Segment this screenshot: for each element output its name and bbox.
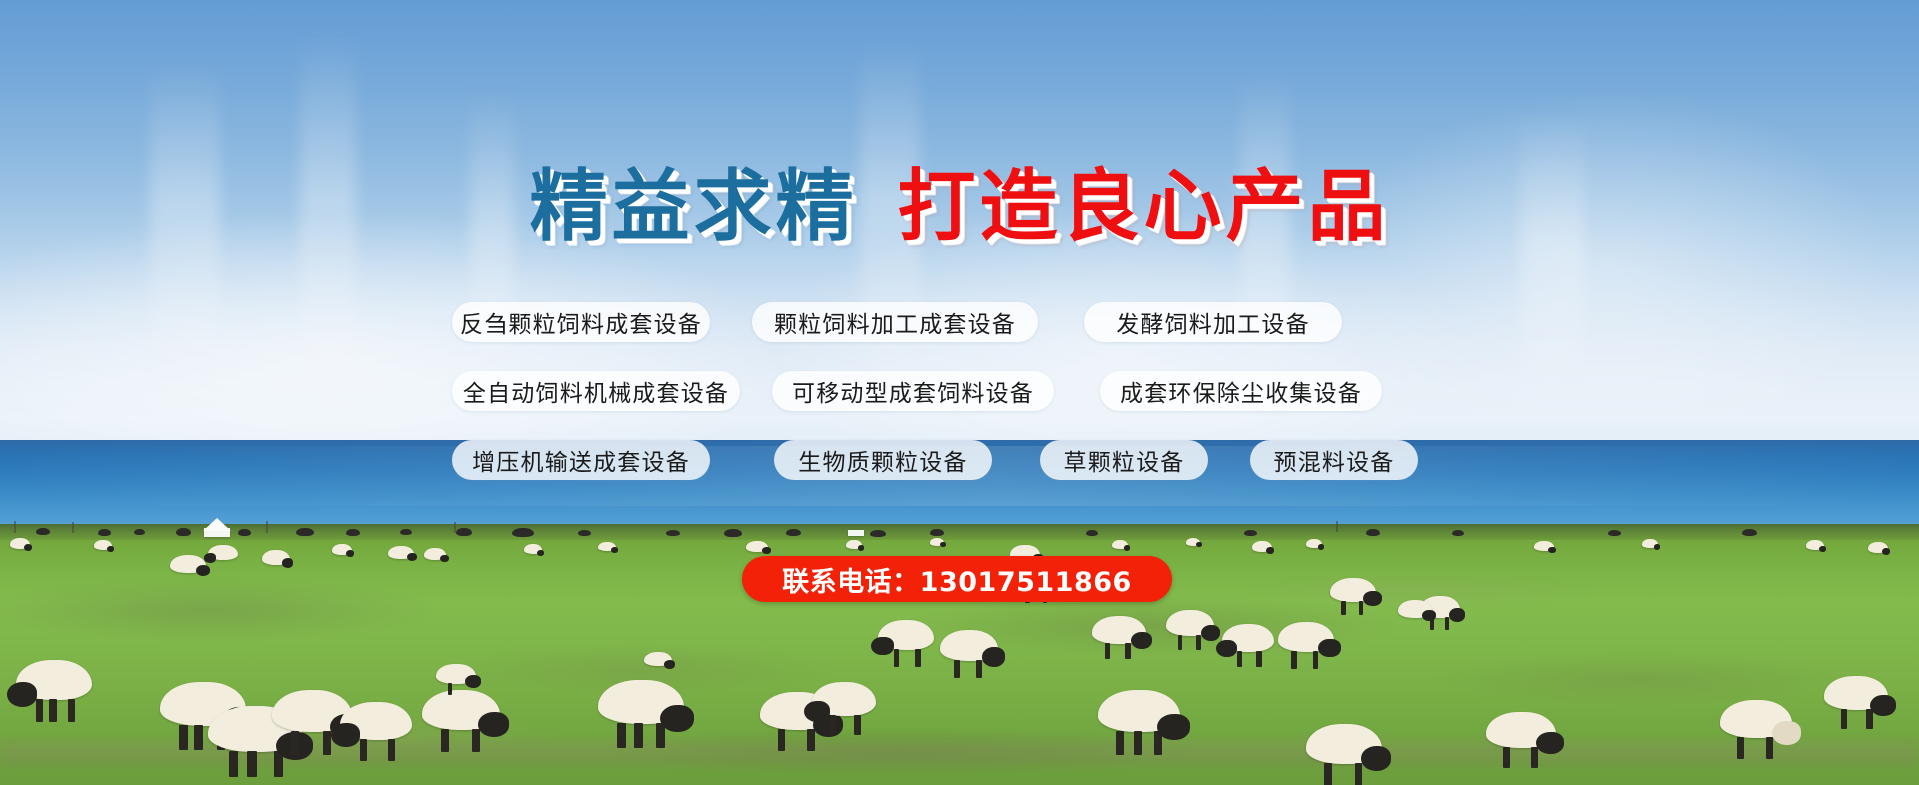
distant-livestock <box>1742 529 1757 536</box>
sheep-leg <box>1313 651 1319 668</box>
product-pill-fermented-feed-processing-equipment[interactable]: 发酵饲料加工设备 <box>1084 302 1342 342</box>
distant-livestock <box>666 530 680 536</box>
product-pill-ruminant-pellet-feed-complete-equipment[interactable]: 反刍颗粒饲料成套设备 <box>452 302 710 342</box>
product-pill-movable-complete-feed-equipment[interactable]: 可移动型成套饲料设备 <box>772 371 1054 411</box>
sheep-leg <box>854 715 860 735</box>
sheep <box>878 620 934 650</box>
sheep <box>1112 540 1128 549</box>
product-pill-booster-conveying-complete-equipment[interactable]: 增压机输送成套设备 <box>452 440 710 480</box>
sheep-leg <box>472 729 480 752</box>
sheep-leg <box>1116 731 1124 755</box>
sheep-leg <box>388 739 395 761</box>
distant-livestock <box>456 528 472 536</box>
sheep <box>1098 690 1180 732</box>
sheep <box>208 545 238 560</box>
sheep <box>940 630 998 661</box>
yurt-roof <box>203 518 231 531</box>
sheep-leg <box>360 739 367 761</box>
sheep <box>846 540 862 549</box>
product-pill-grass-pellet-equipment[interactable]: 草颗粒设备 <box>1040 440 1208 480</box>
sheep-leg <box>656 723 665 749</box>
sheep-leg <box>179 725 188 751</box>
sheep <box>1278 622 1334 652</box>
distant-livestock <box>1086 530 1098 536</box>
distant-livestock <box>134 529 145 535</box>
sheep <box>598 542 616 551</box>
sheep-leg <box>1237 651 1242 667</box>
sheep <box>1306 539 1322 548</box>
page-title: 精益求精打造良心产品 <box>0 168 1919 246</box>
sheep-leg <box>1531 747 1538 768</box>
sheep <box>1806 540 1824 550</box>
sheep <box>332 544 352 555</box>
distant-livestock <box>238 529 251 536</box>
sheep <box>930 538 944 546</box>
contact-phone-badge[interactable]: 联系电话：13017511866 <box>742 556 1172 602</box>
sheep-leg <box>830 715 836 735</box>
sheep <box>1398 600 1432 618</box>
fence-post <box>14 521 16 533</box>
sheep-leg <box>954 660 960 678</box>
sheep <box>1720 700 1792 738</box>
sheep-leg <box>976 660 982 678</box>
sheep <box>424 548 446 560</box>
sheep-leg <box>807 729 814 751</box>
sheep <box>644 652 672 666</box>
sheep-leg <box>36 699 44 722</box>
sheep <box>524 544 542 554</box>
sheep-leg <box>894 649 900 666</box>
sheep-leg <box>617 723 626 749</box>
contact-phone-label: 联系电话：13017511866 <box>782 560 1132 599</box>
sheep-leg <box>1737 737 1744 759</box>
promo-banner: 精益求精打造良心产品 反刍颗粒饲料成套设备 颗粒饲料加工成套设备 发酵饲料加工设… <box>0 0 1919 785</box>
sheep-leg <box>1355 763 1363 785</box>
sheep-leg <box>1341 601 1346 615</box>
sheep <box>1092 616 1146 644</box>
sheep <box>170 555 206 573</box>
headline-part-a: 精益求精 <box>529 162 857 252</box>
sheep <box>1642 539 1658 548</box>
distant-livestock <box>1244 530 1257 536</box>
headline-part-b: 打造良心产品 <box>898 162 1390 252</box>
fence-post <box>266 521 268 533</box>
product-row-2: 全自动饲料机械成套设备 可移动型成套饲料设备 成套环保除尘收集设备 <box>452 371 1468 411</box>
sheep <box>746 541 768 552</box>
sheep-leg <box>1324 763 1332 785</box>
sheep-leg <box>1154 731 1162 755</box>
sheep <box>16 660 92 700</box>
sheep <box>10 538 30 549</box>
sheep-leg <box>291 731 299 755</box>
distant-livestock <box>512 528 534 537</box>
sheep-leg <box>194 725 203 751</box>
distant-livestock <box>724 529 742 537</box>
sheep-leg <box>1134 731 1142 755</box>
distant-livestock <box>296 528 314 536</box>
product-row-1: 反刍颗粒饲料成套设备 颗粒饲料加工成套设备 发酵饲料加工设备 <box>452 302 1468 342</box>
sheep <box>436 664 476 684</box>
product-pill-pellet-feed-processing-complete-equipment[interactable]: 颗粒饲料加工成套设备 <box>752 302 1038 342</box>
sheep-leg <box>323 731 331 755</box>
sheep-leg <box>1291 651 1297 668</box>
sheep <box>1824 676 1888 710</box>
sheep-leg <box>1256 651 1261 667</box>
product-row-3: 增压机输送成套设备 生物质颗粒设备 草颗粒设备 预混料设备 <box>452 440 1468 480</box>
sheep-leg <box>1503 747 1510 768</box>
sheep-leg <box>68 699 76 722</box>
distant-livestock <box>930 529 944 536</box>
distant-livestock <box>400 529 412 535</box>
sheep-leg <box>448 683 452 695</box>
sheep <box>422 690 500 730</box>
sheep-leg <box>1105 643 1110 659</box>
distant-livestock <box>1608 530 1621 536</box>
sheep <box>1868 542 1888 553</box>
sheep-leg <box>1866 709 1872 729</box>
yurt-tent <box>848 530 864 536</box>
sheep-leg <box>778 729 785 751</box>
sheep <box>340 702 412 740</box>
sheep-leg <box>49 699 57 722</box>
sheep <box>1534 541 1554 551</box>
sheep <box>1222 624 1274 652</box>
sheep <box>1252 541 1272 552</box>
product-pill-fully-automatic-feed-machinery-complete-equipment[interactable]: 全自动饲料机械成套设备 <box>452 371 740 411</box>
sheep-leg <box>274 751 283 778</box>
sheep-leg <box>1766 737 1773 759</box>
product-pill-biomass-pellet-equipment[interactable]: 生物质颗粒设备 <box>774 440 992 480</box>
distant-livestock <box>1366 529 1380 536</box>
product-pill-premix-equipment[interactable]: 预混料设备 <box>1250 440 1418 480</box>
sheep-leg <box>247 751 256 778</box>
distant-livestock <box>36 528 50 535</box>
fence-post <box>72 522 74 533</box>
sheep <box>1306 724 1382 764</box>
sheep <box>1166 610 1214 636</box>
sheep-leg <box>441 729 449 752</box>
fence-post <box>1336 521 1338 532</box>
sheep-leg <box>1178 635 1183 650</box>
distant-livestock <box>176 528 191 536</box>
sheep <box>812 682 876 716</box>
sheep <box>598 680 684 724</box>
sheep <box>262 550 290 565</box>
distant-livestock <box>786 529 801 536</box>
distant-livestock <box>346 529 360 536</box>
sheep-leg <box>915 649 921 666</box>
distant-livestock <box>1452 530 1464 536</box>
sheep-leg <box>229 751 238 778</box>
sheep-leg <box>634 723 643 749</box>
sheep-leg <box>1125 643 1130 659</box>
sheep-leg <box>1359 601 1364 615</box>
sheep-leg <box>1445 617 1449 630</box>
sheep <box>1186 538 1200 546</box>
rain-streak <box>1520 110 1584 410</box>
sheep-leg <box>1196 635 1201 650</box>
sheep-leg <box>1841 709 1847 729</box>
sheep <box>94 540 112 550</box>
product-pill-complete-environmental-dust-collection-equipment[interactable]: 成套环保除尘收集设备 <box>1100 371 1382 411</box>
sheep <box>388 546 414 559</box>
distant-livestock <box>870 530 886 537</box>
distant-livestock <box>578 530 591 536</box>
sheep <box>1330 578 1376 602</box>
product-category-list: 反刍颗粒饲料成套设备 颗粒饲料加工成套设备 发酵饲料加工设备 全自动饲料机械成套… <box>452 302 1468 480</box>
sheep <box>1486 712 1556 748</box>
distant-livestock <box>98 529 111 536</box>
